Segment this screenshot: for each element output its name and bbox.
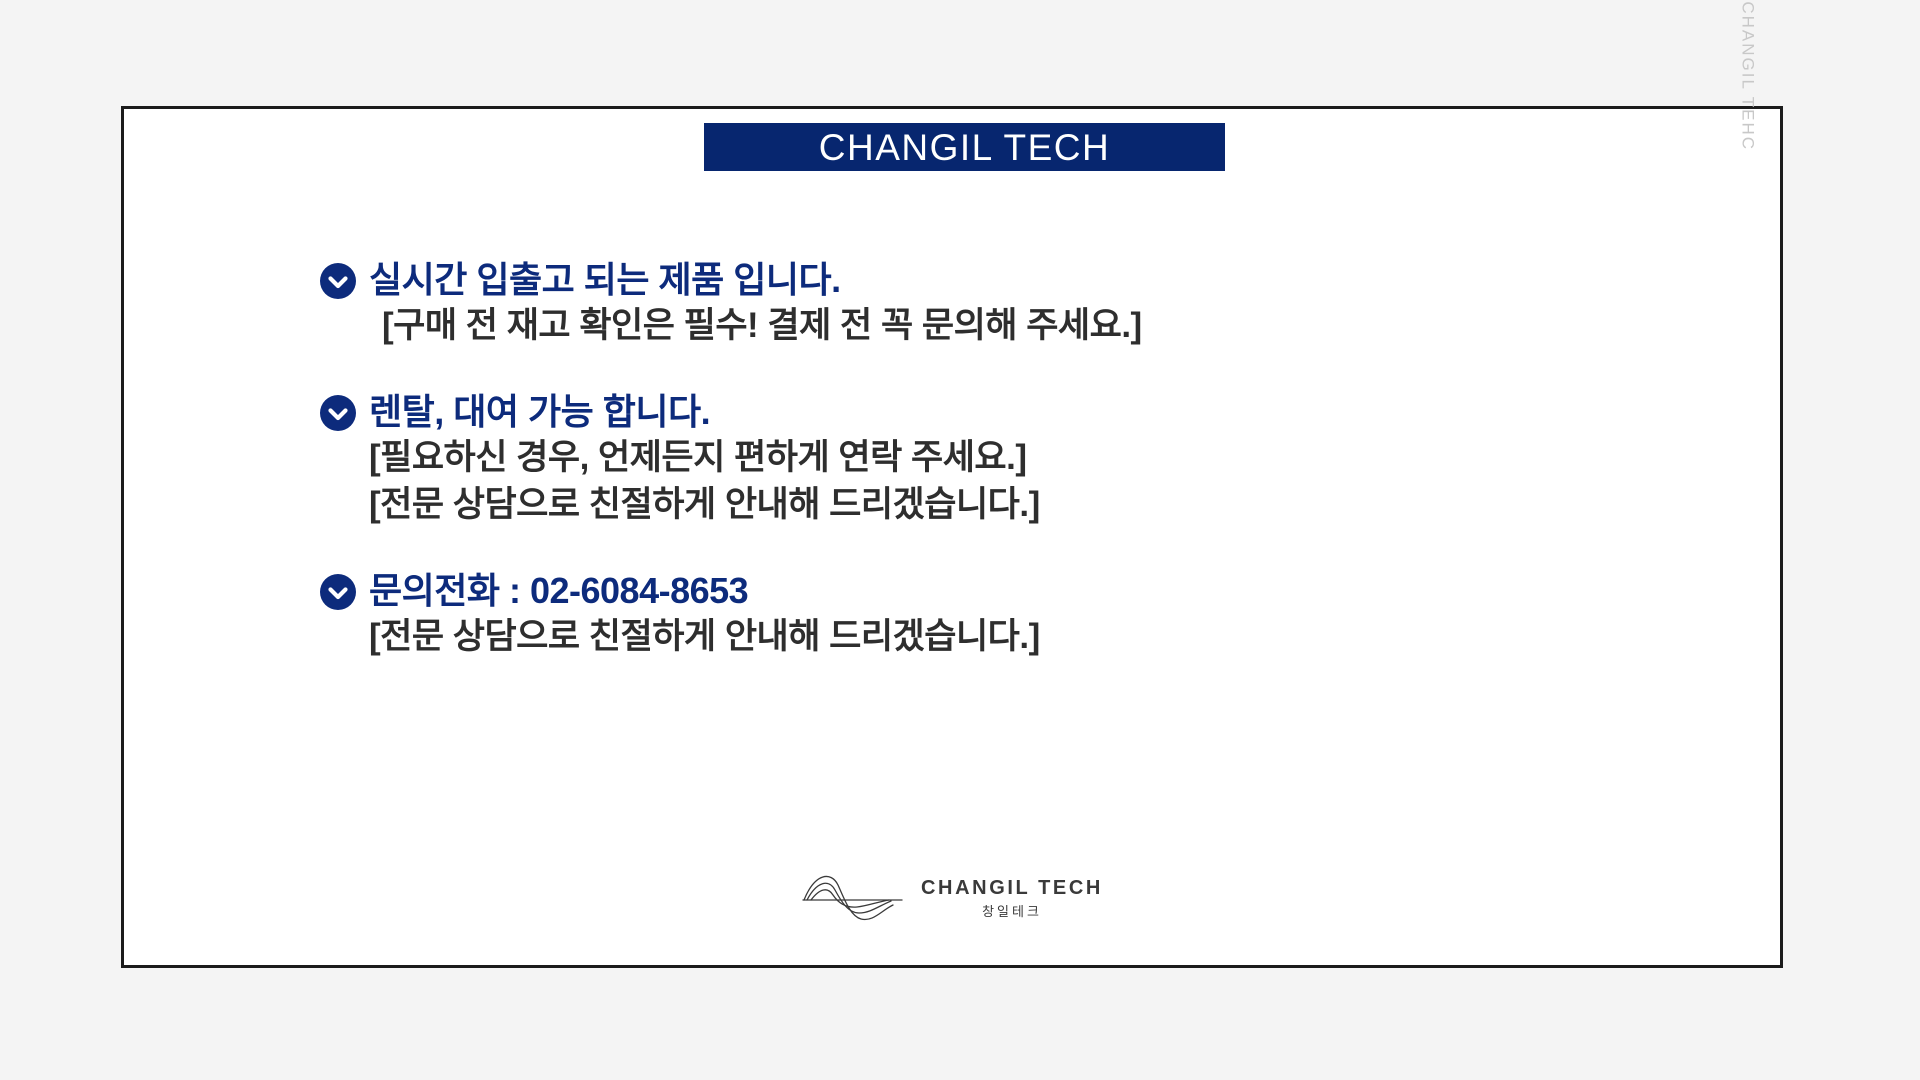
bullet-item: 렌탈, 대여 가능 합니다. [필요하신 경우, 언제든지 편하게 연락 주세요… xyxy=(320,389,1600,527)
check-circle-icon xyxy=(320,568,356,610)
bullet-subline: [전문 상담으로 친절하게 안내해 드리겠습니다.] xyxy=(320,614,1600,660)
header-banner: CHANGIL TECH xyxy=(704,123,1225,171)
contact-phone-title: 문의전화 : 02-6084-8653 xyxy=(369,568,748,614)
bullet-item: 문의전화 : 02-6084-8653 [전문 상담으로 친절하게 안내해 드리… xyxy=(320,568,1600,660)
bullet-subline: [구매 전 재고 확인은 필수! 결제 전 꼭 문의해 주세요.] xyxy=(320,303,1600,349)
bullet-title: 렌탈, 대여 가능 합니다. xyxy=(369,389,710,435)
bullet-heading-row: 렌탈, 대여 가능 합니다. xyxy=(320,389,1600,435)
wave-logo-icon xyxy=(801,867,905,929)
logo-company-kr: 창일테크 xyxy=(921,905,1103,918)
bullet-heading-row: 실시간 입출고 되는 제품 입니다. xyxy=(320,257,1600,303)
bullet-list: 실시간 입출고 되는 제품 입니다. [구매 전 재고 확인은 필수! 결제 전… xyxy=(320,257,1600,660)
bullet-item: 실시간 입출고 되는 제품 입니다. [구매 전 재고 확인은 필수! 결제 전… xyxy=(320,257,1600,349)
page-title: CHANGIL TECH xyxy=(819,129,1110,166)
bullet-heading-row: 문의전화 : 02-6084-8653 xyxy=(320,568,1600,614)
logo-wordmark: CHANGIL TECH 창일테크 xyxy=(921,878,1103,918)
footer-logo: CHANGIL TECH 창일테크 xyxy=(124,867,1780,929)
bullet-subline: [필요하신 경우, 언제든지 편하게 연락 주세요.] xyxy=(320,435,1600,481)
watermark-text: CHANGIL TEHC xyxy=(1738,1,1758,151)
bullet-subline: [전문 상담으로 친절하게 안내해 드리겠습니다.] xyxy=(320,482,1600,528)
promo-card: CHANGIL TECH CHANGIL TEHC 실시간 입출고 되는 제품 … xyxy=(121,106,1783,968)
check-circle-icon xyxy=(320,389,356,431)
check-circle-icon xyxy=(320,257,356,299)
logo-company-en: CHANGIL TECH xyxy=(921,877,1103,899)
bullet-title: 실시간 입출고 되는 제품 입니다. xyxy=(369,257,841,303)
